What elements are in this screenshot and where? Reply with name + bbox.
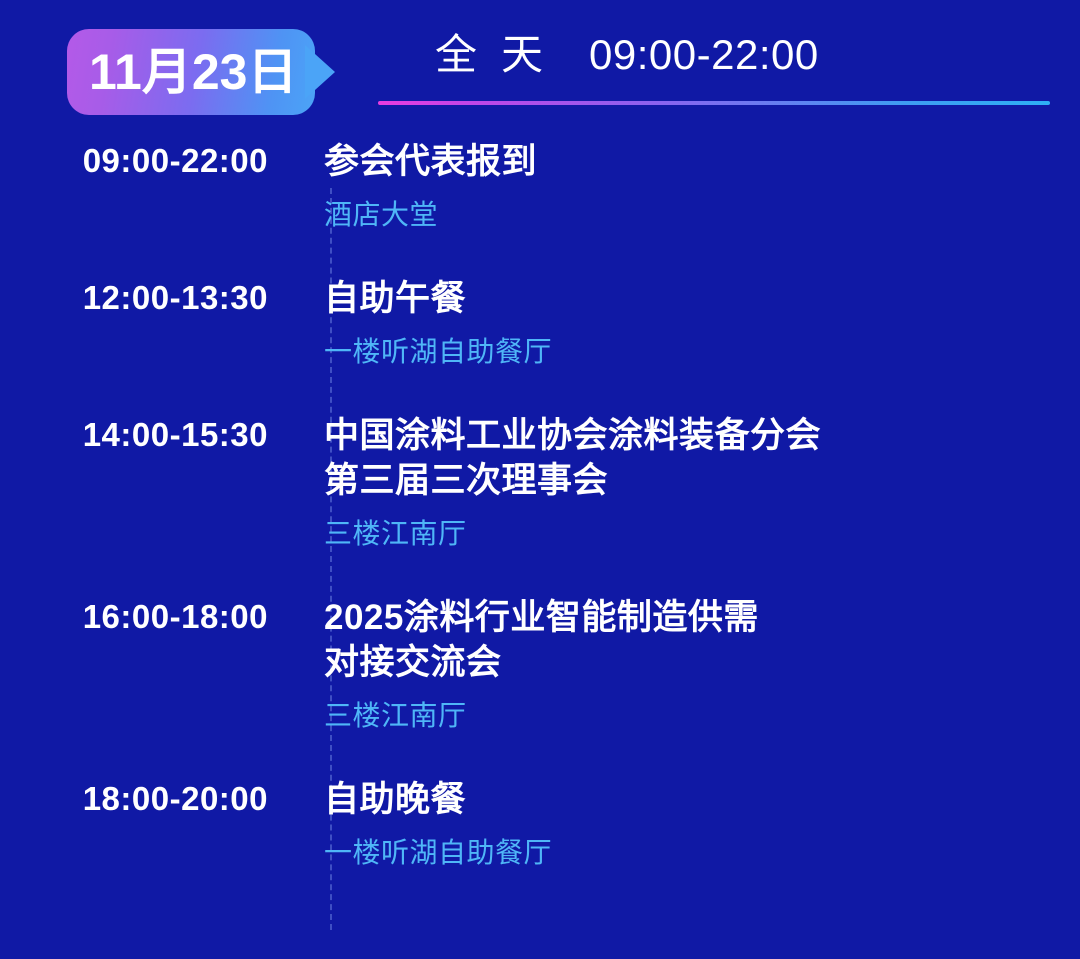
schedule-row[interactable]: 12:00-13:30自助午餐一楼听湖自助餐厅: [0, 277, 1080, 414]
row-location: 一楼听湖自助餐厅: [324, 334, 1080, 370]
schedule-row[interactable]: 09:00-22:00参会代表报到酒店大堂: [0, 140, 1080, 277]
row-body: 自助午餐一楼听湖自助餐厅: [292, 277, 1080, 370]
row-time: 14:00-15:30: [0, 414, 292, 455]
row-time: 18:00-20:00: [0, 778, 292, 819]
row-location: 三楼江南厅: [324, 698, 1080, 734]
row-title: 参会代表报到: [324, 140, 1080, 185]
all-day-time: 09:00-22:00: [589, 34, 819, 76]
header-gradient-underline: [378, 101, 1050, 105]
all-day-label: 全天: [435, 34, 567, 76]
row-time: 16:00-18:00: [0, 596, 292, 637]
date-badge-label: 11月23日: [89, 47, 297, 97]
schedule-row[interactable]: 14:00-15:30中国涂料工业协会涂料装备分会 第三届三次理事会三楼江南厅: [0, 414, 1080, 596]
header-summary: 全天 09:00-22:00: [378, 29, 1050, 109]
schedule-rows: 09:00-22:00参会代表报到酒店大堂12:00-13:30自助午餐一楼听湖…: [0, 140, 1080, 916]
date-badge-body: 11月23日: [67, 29, 315, 115]
row-body: 参会代表报到酒店大堂: [292, 140, 1080, 233]
header-summary-text: 全天 09:00-22:00: [435, 34, 819, 76]
schedule-header: 11月23日 全天 09:00-22:00: [0, 0, 1080, 140]
row-body: 自助晚餐一楼听湖自助餐厅: [292, 778, 1080, 871]
row-title: 自助午餐: [324, 277, 1080, 322]
row-location: 酒店大堂: [324, 197, 1080, 233]
row-time: 12:00-13:30: [0, 277, 292, 318]
row-location: 一楼听湖自助餐厅: [324, 835, 1080, 871]
row-title: 2025涂料行业智能制造供需 对接交流会: [324, 596, 1080, 686]
schedule-row[interactable]: 18:00-20:00自助晚餐一楼听湖自助餐厅: [0, 778, 1080, 915]
badge-arrow-icon: [305, 45, 335, 99]
schedule-list: 09:00-22:00参会代表报到酒店大堂12:00-13:30自助午餐一楼听湖…: [0, 140, 1080, 959]
row-body: 中国涂料工业协会涂料装备分会 第三届三次理事会三楼江南厅: [292, 414, 1080, 552]
row-location: 三楼江南厅: [324, 516, 1080, 552]
row-body: 2025涂料行业智能制造供需 对接交流会三楼江南厅: [292, 596, 1080, 734]
row-title: 自助晚餐: [324, 778, 1080, 823]
date-badge: 11月23日: [67, 29, 315, 115]
row-title: 中国涂料工业协会涂料装备分会 第三届三次理事会: [324, 414, 1080, 504]
row-time: 09:00-22:00: [0, 140, 292, 181]
schedule-row[interactable]: 16:00-18:002025涂料行业智能制造供需 对接交流会三楼江南厅: [0, 596, 1080, 778]
